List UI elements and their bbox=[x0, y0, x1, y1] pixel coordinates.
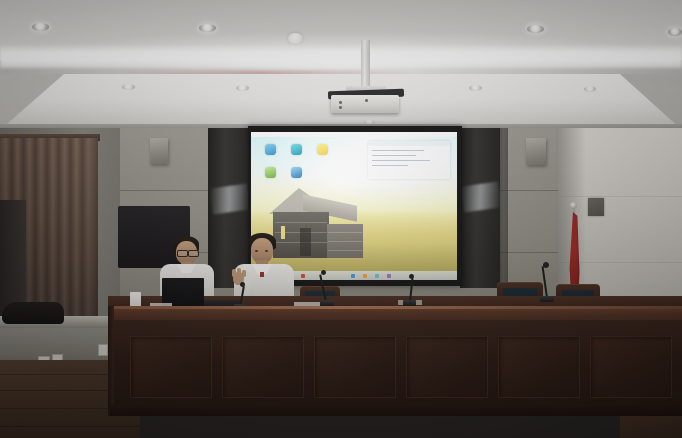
microphone-4-head bbox=[543, 262, 549, 268]
table-panel-1 bbox=[130, 336, 212, 398]
microphone-4-base bbox=[540, 296, 554, 302]
desktop-icon-5[interactable] bbox=[291, 167, 302, 178]
microphone-1-head bbox=[240, 282, 245, 287]
microphone-3-head bbox=[409, 274, 414, 279]
table-panel-3 bbox=[314, 336, 396, 398]
table-panel-2 bbox=[222, 336, 304, 398]
projector-indicator-1 bbox=[339, 101, 342, 104]
meeting-room-photo bbox=[0, 0, 682, 438]
taskbar-icon-5[interactable] bbox=[375, 274, 379, 278]
desktop-icon-1[interactable] bbox=[265, 144, 276, 155]
wall-outlet-3[interactable] bbox=[98, 344, 108, 356]
bag-on-sill bbox=[2, 302, 64, 324]
downlight-7 bbox=[469, 85, 482, 91]
open-application-window[interactable] bbox=[368, 141, 450, 179]
barn-ext-slat-2 bbox=[328, 241, 362, 242]
barn-slat-1 bbox=[275, 222, 327, 223]
person-left-glasses-lens-left bbox=[177, 250, 188, 257]
projector-pole-mount bbox=[361, 40, 370, 90]
downlight-4 bbox=[668, 28, 682, 36]
person-right-finger-3 bbox=[242, 270, 246, 277]
table-panel-4 bbox=[406, 336, 488, 398]
desktop-icon-4[interactable] bbox=[265, 167, 276, 178]
downlight-5 bbox=[122, 84, 135, 90]
flag-finial bbox=[570, 202, 577, 209]
person-right-finger-2 bbox=[237, 268, 241, 276]
projector-indicator-2 bbox=[339, 106, 342, 109]
downlight-1 bbox=[32, 23, 49, 31]
table-panel-6 bbox=[590, 336, 672, 398]
paper-cup[interactable] bbox=[130, 292, 141, 307]
person-right-eye-left bbox=[255, 250, 258, 252]
wall-seam-5 bbox=[560, 196, 682, 197]
projection-screen-image[interactable] bbox=[251, 132, 457, 280]
floor-plank-4 bbox=[0, 426, 140, 427]
barn-ext-slat-3 bbox=[328, 250, 362, 251]
downlight-2 bbox=[199, 24, 216, 32]
pilaster-left-glare bbox=[209, 183, 250, 214]
barn-window bbox=[281, 226, 285, 239]
microphone-2-head bbox=[321, 270, 326, 275]
person-right-tie-knot bbox=[260, 272, 264, 277]
window-text-line-3 bbox=[372, 160, 430, 161]
wall-speaker-right bbox=[526, 138, 546, 165]
pilaster-right-edge bbox=[500, 128, 508, 288]
desktop-icon-2[interactable] bbox=[291, 144, 302, 155]
barn-ext-slat-1 bbox=[328, 232, 362, 233]
projector-body bbox=[331, 95, 399, 113]
window-text-line-1 bbox=[372, 150, 424, 151]
conference-table-edge-highlight bbox=[108, 306, 682, 309]
table-panel-5 bbox=[498, 336, 580, 398]
window-text-line-4 bbox=[372, 165, 408, 166]
cove-light-strip bbox=[0, 44, 682, 68]
conference-table-left-edge bbox=[108, 306, 114, 416]
taskbar-icon-4[interactable] bbox=[363, 274, 367, 278]
barn-side-extension bbox=[327, 224, 363, 258]
conference-table-base bbox=[110, 404, 682, 416]
projector-indicator-3 bbox=[365, 99, 368, 102]
wall-speaker-left bbox=[150, 138, 168, 164]
person-right-finger-1 bbox=[232, 269, 236, 277]
window-text-line-2 bbox=[372, 155, 416, 156]
desktop-icon-3[interactable] bbox=[317, 144, 328, 155]
pilaster-right-glare bbox=[460, 181, 501, 212]
downlight-3 bbox=[527, 25, 544, 33]
downlight-6 bbox=[236, 85, 249, 91]
wall-plaque bbox=[588, 198, 604, 216]
screen-title-bar bbox=[251, 132, 457, 137]
downlight-8 bbox=[584, 86, 596, 92]
application-window-titlebar bbox=[368, 141, 450, 146]
barn-door bbox=[300, 228, 311, 256]
taskbar-icon-6[interactable] bbox=[387, 274, 391, 278]
person-left-glasses-lens-right bbox=[188, 250, 199, 257]
person-right-eye-right bbox=[265, 250, 268, 252]
taskbar-icon-3[interactable] bbox=[351, 274, 355, 278]
taskbar-icon-2[interactable] bbox=[301, 274, 305, 278]
